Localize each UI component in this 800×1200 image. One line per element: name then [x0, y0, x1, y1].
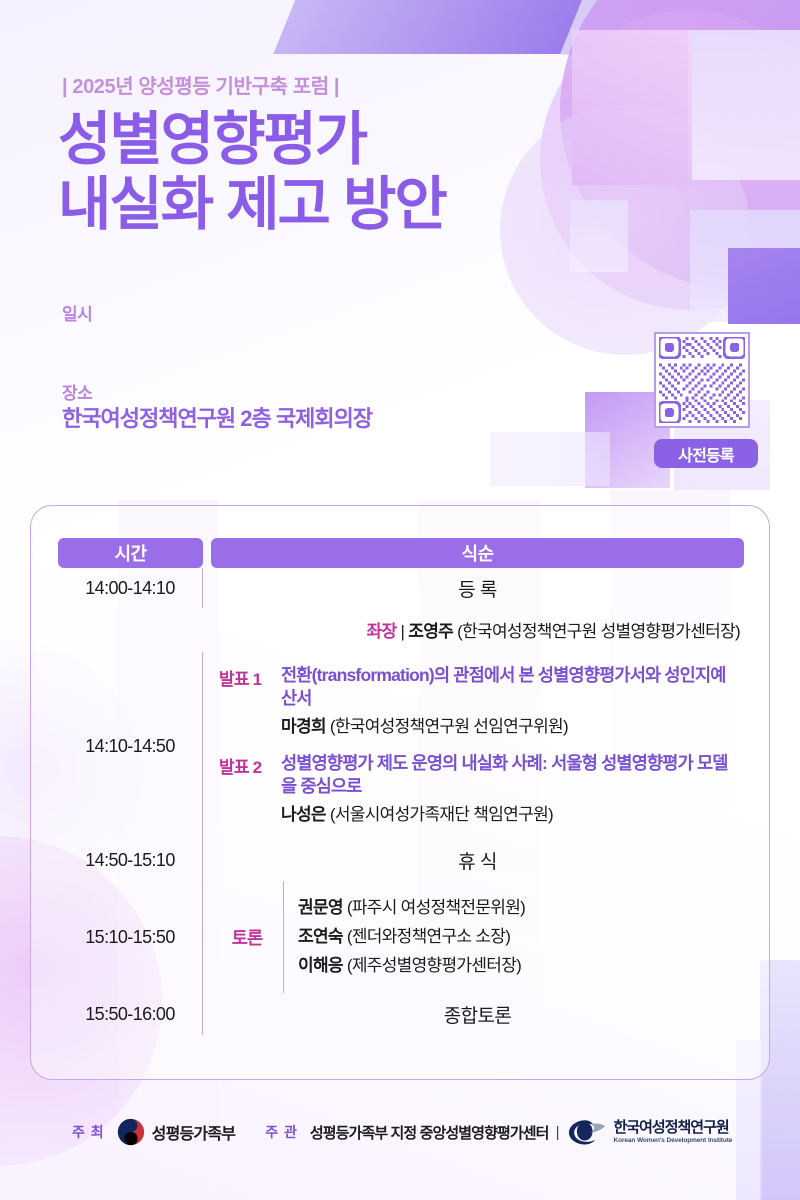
registration-time: 14:00-14:10: [58, 568, 203, 608]
panelist-2-name: 조연숙: [298, 927, 343, 946]
session-1-tag: 발표 1: [211, 664, 281, 690]
date-value: 2025. 11. 11. (화) 14:00-16:00: [62, 327, 440, 363]
table-row-discussion: 15:10-15:50 토론 권문영 (파주시 여성정책전문위원) 조연숙 (젠…: [58, 881, 744, 994]
session-item: 발표 1 전환(transformation)의 관점에서 본 성별영향평가서와…: [211, 664, 744, 739]
session-2-tag: 발표 2: [211, 752, 281, 778]
kwdi-logo: 한국여성정책연구원 Korean Women's Development Ins…: [567, 1118, 733, 1146]
decorative-rect-2: [572, 30, 692, 185]
institute-name-ko: 한국여성정책연구원: [614, 1120, 733, 1136]
organizer-label: 주 관: [265, 1122, 298, 1142]
discussion-tag: 토론: [211, 881, 284, 994]
panelist-2-affiliation: (젠더와정책연구소 소장): [347, 927, 510, 946]
header-spacer: [203, 538, 211, 568]
column-header-time: 시간: [58, 538, 203, 568]
table-row-registration: 14:00-14:10 등 록: [58, 568, 744, 608]
panelist-3-name: 이해응: [298, 956, 343, 975]
break-label: 휴 식: [211, 841, 744, 881]
session-item: 발표 2 성별영향평가 제도 운영의 내실화 사례: 서울형 성별영향평가 모델…: [211, 752, 744, 827]
sessions-time: 14:10-14:50: [58, 652, 203, 841]
table-row-chair: 좌장 | 조영주 (한국여성정책연구원 성별영향평가센터장): [58, 608, 744, 652]
place-label: 장소: [62, 379, 440, 404]
place-value: 한국여성정책연구원 2층 국제회의장: [62, 406, 440, 432]
footer-separator: |: [556, 1124, 560, 1141]
host-label: 주 최: [72, 1122, 105, 1142]
registration-label: 등 록: [211, 568, 744, 608]
session-2-speaker-line: 나성은 (서울시여성가족재단 책임연구원): [281, 804, 740, 827]
list-item: 이해응 (제주성별영향평가센터장): [298, 955, 744, 978]
column-header-agenda: 식순: [211, 538, 744, 568]
date-label: 일시: [62, 300, 440, 325]
institute-name-en: Korean Women's Development Institute: [614, 1137, 733, 1144]
discussion-panelists: 권문영 (파주시 여성정책전문위원) 조연숙 (젠더와정책연구소 소장) 이해응…: [284, 881, 744, 994]
chair-affiliation: (한국여성정책연구원 성별영향평가센터장): [457, 622, 740, 641]
kwdi-emblem-icon: [567, 1118, 609, 1146]
chair-name: 조영주: [408, 622, 453, 641]
kwdi-text-block: 한국여성정책연구원 Korean Women's Development Ins…: [614, 1120, 733, 1144]
page-title-line1: 성별영향평가: [58, 107, 366, 172]
chair-label: 좌장: [367, 622, 397, 641]
session-2-speaker: 나성은: [281, 805, 326, 824]
table-row-break: 14:50-15:10 휴 식: [58, 841, 744, 881]
panelist-3-affiliation: (제주성별영향평가센터장): [347, 956, 521, 975]
program-table: 시간 식순 14:00-14:10 등 록 좌장 | 조영주 (한국여성정책연구…: [58, 538, 744, 1035]
list-item: 권문영 (파주시 여성정책전문위원): [298, 897, 744, 920]
decorative-rect-8: [490, 432, 610, 486]
registration-block: 사전등록: [654, 332, 758, 468]
pre-registration-button[interactable]: 사전등록: [654, 439, 758, 468]
footer-organizations: 주 최 성평등가족부 주 관 성평등가족부 지정 중앙성별영향평가센터 | 한국…: [72, 1118, 732, 1146]
decorative-rect-1: [688, 30, 800, 180]
session-1-title: 전환(transformation)의 관점에서 본 성별영향평가서와 성인지예…: [281, 664, 740, 711]
chair-divider: |: [401, 622, 405, 641]
panelist-1-name: 권문영: [298, 898, 343, 917]
event-info: 일시 2025. 11. 11. (화) 14:00-16:00 장소 한국여성…: [62, 300, 440, 432]
decorative-rect-5: [570, 200, 628, 272]
session-1-affiliation: (한국여성정책연구원 선임연구위원): [330, 717, 568, 736]
page-title-line2: 내실화 제고 방안: [58, 173, 446, 238]
qr-code-icon[interactable]: [654, 332, 750, 428]
session-2-affiliation: (서울시여성가족재단 책임연구원): [330, 805, 553, 824]
panelist-1-affiliation: (파주시 여성정책전문위원): [347, 898, 525, 917]
host-name: 성평등가족부: [152, 1120, 236, 1144]
forum-kicker: | 2025년 양성평등 기반구축 포럼 |: [62, 70, 339, 99]
table-row-sessions: 14:10-14:50 발표 1 전환(transformation)의 관점에…: [58, 652, 744, 841]
decorative-rect-4: [728, 248, 800, 324]
table-header-row: 시간 식순: [58, 538, 744, 568]
session-2-body: 성별영향평가 제도 운영의 내실화 사례: 서울형 성별영향평가 모델을 중심으…: [281, 752, 744, 827]
closing-time: 15:50-16:00: [58, 993, 203, 1035]
sessions-cell: 발표 1 전환(transformation)의 관점에서 본 성별영향평가서와…: [211, 652, 744, 841]
closing-label: 종합토론: [211, 993, 744, 1035]
page-title: 성별영향평가 내실화 제고 방안: [58, 108, 446, 238]
session-1-speaker-line: 마경희 (한국여성정책연구원 선임연구위원): [281, 716, 740, 739]
session-2-title: 성별영향평가 제도 운영의 내실화 사례: 서울형 성별영향평가 모델을 중심으…: [281, 752, 740, 799]
list-item: 조연숙 (젠더와정책연구소 소장): [298, 926, 744, 949]
table-row-closing: 15:50-16:00 종합토론: [58, 993, 744, 1035]
korea-government-taeguk-icon: [117, 1118, 145, 1146]
session-1-body: 전환(transformation)의 관점에서 본 성별영향평가서와 성인지예…: [281, 664, 744, 739]
session-1-speaker: 마경희: [281, 717, 326, 736]
break-time: 14:50-15:10: [58, 841, 203, 881]
organizer-name: 성평등가족부 지정 중앙성별영향평가센터: [310, 1122, 549, 1143]
chair-info: 좌장 | 조영주 (한국여성정책연구원 성별영향평가센터장): [211, 608, 744, 652]
discussion-time: 15:10-15:50: [58, 881, 203, 994]
